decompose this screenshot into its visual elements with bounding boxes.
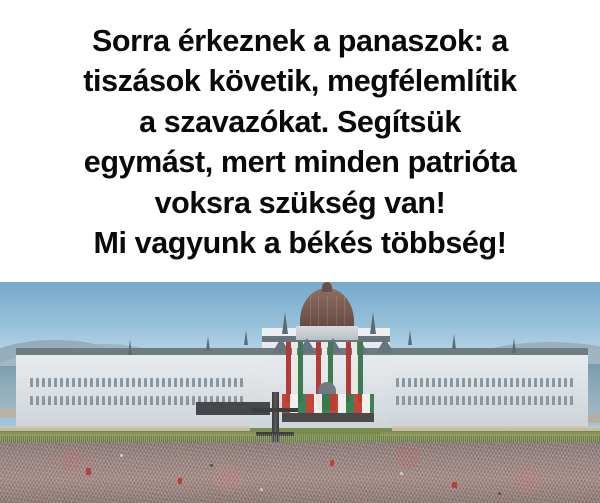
tricolor-banner (292, 342, 297, 402)
parliament-spire (512, 338, 516, 353)
crowd-flag (452, 482, 457, 488)
caption-line-5: voksra szükség van! (0, 183, 600, 224)
stage-platform (282, 413, 374, 422)
caption-line-3: a szavazókat. Segítsük (0, 102, 600, 143)
mast-crossarm (252, 408, 298, 412)
crowd-highlight (400, 472, 403, 475)
walkway (0, 426, 250, 431)
caption-line-4: egymást, mert minden patrióta (0, 142, 600, 183)
dome-lantern (322, 282, 332, 292)
caption-line-1: Sorra érkeznek a panaszok: a (0, 21, 600, 62)
crowd-highlight (120, 454, 123, 457)
window-row (396, 378, 573, 387)
tricolor-banner (358, 342, 363, 402)
parliament-spire (206, 336, 210, 351)
meme-poster: Sorra érkeznek a panaszok: a tiszások kö… (0, 0, 600, 503)
crowd-flag (86, 468, 91, 475)
parliament-spire (452, 334, 456, 349)
parliament-gable (376, 338, 394, 353)
parliament-spire (244, 330, 248, 345)
window-row (396, 396, 573, 405)
crowd-highlight (260, 488, 263, 491)
parliament-right-wing (372, 352, 588, 432)
tricolor-banner (352, 342, 357, 402)
parliament-left-wing (16, 356, 266, 432)
caption-line-6: Mi vagyunk a békés többség! (0, 223, 600, 264)
parliament-photo (0, 282, 600, 503)
parliament-spire (128, 340, 132, 355)
parliament-spire (370, 312, 376, 334)
walkway (392, 426, 600, 431)
crowd-shadow (498, 492, 501, 495)
tricolor-banner (298, 342, 303, 402)
crowd-flag (330, 460, 334, 466)
tricolor-banner (346, 342, 351, 402)
tricolor-banner (286, 342, 291, 402)
crowd-shadow (210, 464, 213, 467)
parliament-spire (408, 330, 412, 345)
caption-block: Sorra érkeznek a panaszok: a tiszások kö… (0, 0, 600, 282)
caption-line-2: tiszások követik, megfélemlítik (0, 61, 600, 102)
window-row (30, 378, 243, 387)
parliament-spire (282, 312, 288, 334)
crowd-flag (178, 478, 182, 484)
